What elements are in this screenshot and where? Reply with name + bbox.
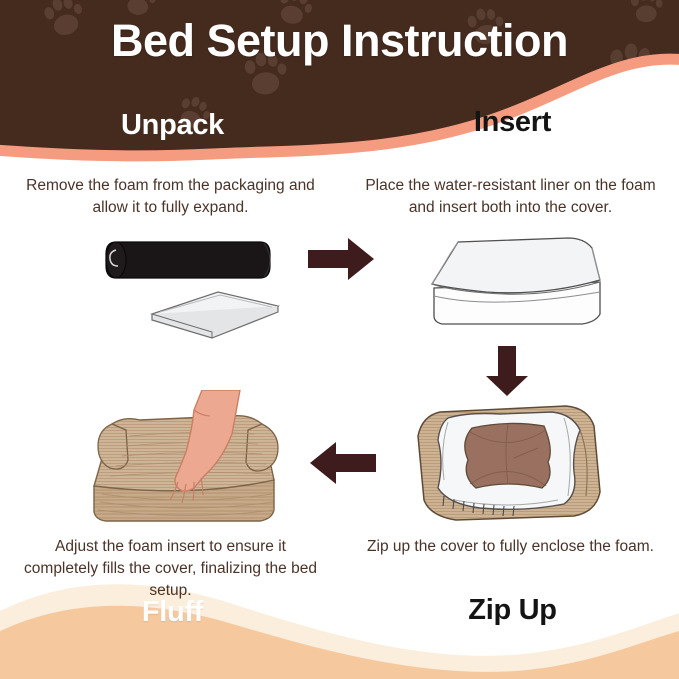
- step-heading-fluff: Fluff: [30, 595, 315, 629]
- liner-layer: [432, 238, 600, 293]
- rolled-foam-icon: [106, 242, 270, 278]
- step-heading-zipup: Zip Up: [370, 593, 655, 627]
- step-heading-unpack: Unpack: [30, 108, 315, 142]
- header-banner: Bed Setup Instruction Unpack Insert: [0, 0, 679, 170]
- bed-bolster-left: [98, 424, 128, 469]
- step-caption-insert: Place the water-resistant liner on the f…: [358, 175, 663, 219]
- arrow-unpack-to-insert: [306, 236, 376, 287]
- step-caption-zipup: Zip up the cover to fully enclose the fo…: [358, 536, 663, 558]
- foam-with-liner-illustration: [424, 230, 614, 345]
- step-caption-unpack: Remove the foam from the packaging and a…: [18, 175, 323, 219]
- arrow-zipup-to-fluff: [308, 440, 378, 491]
- rolled-foam-and-liner-illustration: [100, 228, 290, 348]
- zipped-pet-bed-illustration: [404, 396, 614, 531]
- liner-sheet-icon: [152, 292, 278, 338]
- arrow-insert-to-zipup: [484, 344, 530, 403]
- bed-setup-instruction-poster: Bed Setup Instruction Unpack Insert Remo…: [0, 0, 679, 679]
- step-heading-insert: Insert: [370, 105, 655, 139]
- step-caption-fluff: Adjust the foam insert to ensure it comp…: [18, 536, 323, 602]
- page-title: Bed Setup Instruction: [0, 14, 679, 68]
- hand-fluffing-bed-illustration: [82, 390, 312, 535]
